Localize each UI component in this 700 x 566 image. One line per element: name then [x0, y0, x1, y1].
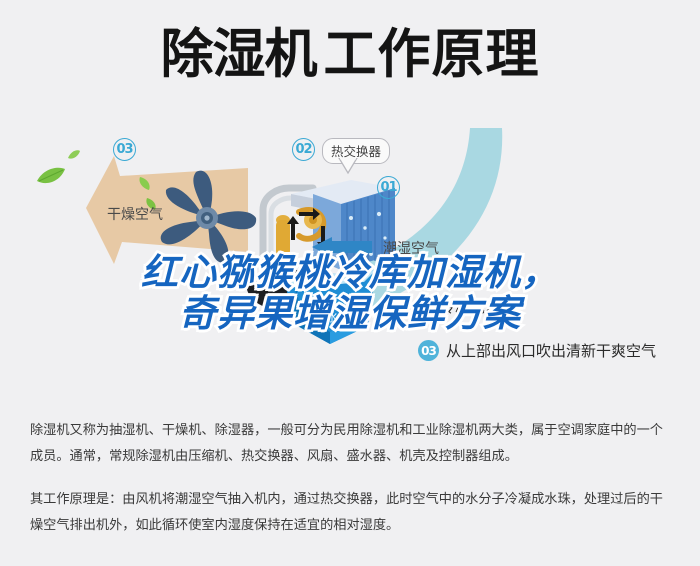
step-01-badge: 01	[377, 176, 400, 199]
leaf-icon	[138, 176, 152, 195]
step-02-badge: 02	[292, 138, 315, 161]
note-03-text: 从上部出风口吹出清新干爽空气	[446, 340, 656, 361]
note-02-text: 器冷凝成水珠	[425, 296, 515, 317]
water-tank: 水箱	[280, 268, 385, 348]
air-inflow-arrow	[310, 236, 372, 258]
page-title-part2: 工作原理	[324, 28, 540, 81]
fan-icon	[152, 166, 262, 266]
note-03-badge: 03	[418, 340, 439, 361]
page-title: 除湿机工作原理	[0, 28, 700, 81]
page-title-part1: 除湿机	[161, 28, 317, 81]
body-text: 除湿机又称为抽湿机、干燥机、除湿器，一般可分为民用除湿机和工业除湿机两大类，属于…	[30, 418, 675, 539]
step-03-badge: 03	[113, 138, 136, 161]
step-03-label: 干燥空气	[107, 204, 163, 224]
callout-tail-icon	[337, 158, 359, 174]
step-01-label: 潮湿空气	[383, 238, 439, 258]
body-paragraph-1: 除湿机又称为抽湿机、干燥机、除湿器，一般可分为民用除湿机和工业除湿机两大类，属于…	[30, 418, 675, 469]
water-tank-label: 水箱	[326, 308, 350, 325]
leaf-icon	[36, 166, 66, 190]
infographic-page: 除湿机工作原理	[0, 0, 700, 566]
leaf-icon	[67, 145, 81, 164]
body-paragraph-2: 其工作原理是：由风机将潮湿空气抽入机内，通过热交换器，此时空气中的水分子冷凝成水…	[30, 487, 675, 538]
dehumidifier-diagram: 水箱 03 干燥空气 02 热交换器 01 潮湿空气 器冷凝成水珠 03 从上部…	[0, 118, 700, 403]
